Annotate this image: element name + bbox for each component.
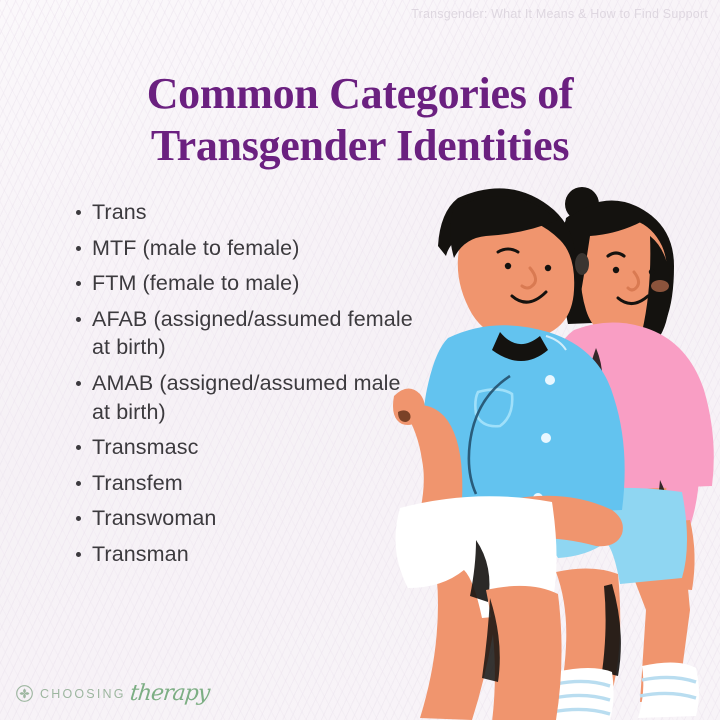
- bullet-icon: [76, 516, 81, 521]
- bullet-icon: [76, 381, 81, 386]
- list-item: Transfem: [76, 469, 416, 498]
- person-right-ear-shadow: [575, 253, 589, 275]
- page-title: Common Categories of Transgender Identit…: [0, 68, 720, 172]
- list-item-label: Transman: [92, 540, 189, 569]
- list-item-label: Transwoman: [92, 504, 216, 533]
- header-strip: Transgender: What It Means & How to Find…: [0, 0, 720, 28]
- page-title-line-1: Common Categories of: [0, 68, 720, 120]
- bullet-icon: [76, 210, 81, 215]
- list-item: Trans: [76, 198, 416, 227]
- bullet-icon: [76, 552, 81, 557]
- list-item: AMAB (assigned/assumed male at birth): [76, 369, 416, 426]
- person-left-eye-2: [545, 265, 551, 271]
- brand-name: CHOOSING: [40, 687, 126, 701]
- list-item-label: Trans: [92, 198, 147, 227]
- list-item: Transmasc: [76, 433, 416, 462]
- person-right-sock: [552, 668, 614, 720]
- bullet-icon: [76, 317, 81, 322]
- bullet-icon: [76, 281, 81, 286]
- list-item-label: AFAB (assigned/assumed female at birth): [92, 305, 416, 362]
- person-right-eye: [613, 267, 619, 273]
- list-item-label: FTM (female to male): [92, 269, 299, 298]
- person-right-eye-2: [649, 269, 655, 275]
- person-left-shirt-button-2: [541, 433, 551, 443]
- person-left-eye: [505, 263, 511, 269]
- person-right-sock-2: [638, 662, 699, 718]
- list-item-label: AMAB (assigned/assumed male at birth): [92, 369, 416, 426]
- list-item-label: MTF (male to female): [92, 234, 299, 263]
- person-left-shirt-button: [545, 375, 555, 385]
- header-article-title: Transgender: What It Means & How to Find…: [411, 7, 708, 21]
- list-item: Transman: [76, 540, 416, 569]
- bullet-icon: [76, 481, 81, 486]
- person-right-cheek: [651, 280, 669, 292]
- bullet-icon: [76, 445, 81, 450]
- list-item-label: Transfem: [92, 469, 183, 498]
- page-title-line-2: Transgender Identities: [0, 120, 720, 172]
- bullet-icon: [76, 246, 81, 251]
- list-item: Transwoman: [76, 504, 416, 533]
- list-item: AFAB (assigned/assumed female at birth): [76, 305, 416, 362]
- flower-circle-icon: [16, 685, 33, 702]
- list-item-label: Transmasc: [92, 433, 198, 462]
- list-item: MTF (male to female): [76, 234, 416, 263]
- list-item: FTM (female to male): [76, 269, 416, 298]
- identity-list: Trans MTF (male to female) FTM (female t…: [76, 198, 416, 576]
- brand-name-script: therapy: [128, 681, 210, 706]
- infographic-canvas: Transgender: What It Means & How to Find…: [0, 0, 720, 720]
- brand-logo[interactable]: CHOOSING therapy: [16, 681, 209, 706]
